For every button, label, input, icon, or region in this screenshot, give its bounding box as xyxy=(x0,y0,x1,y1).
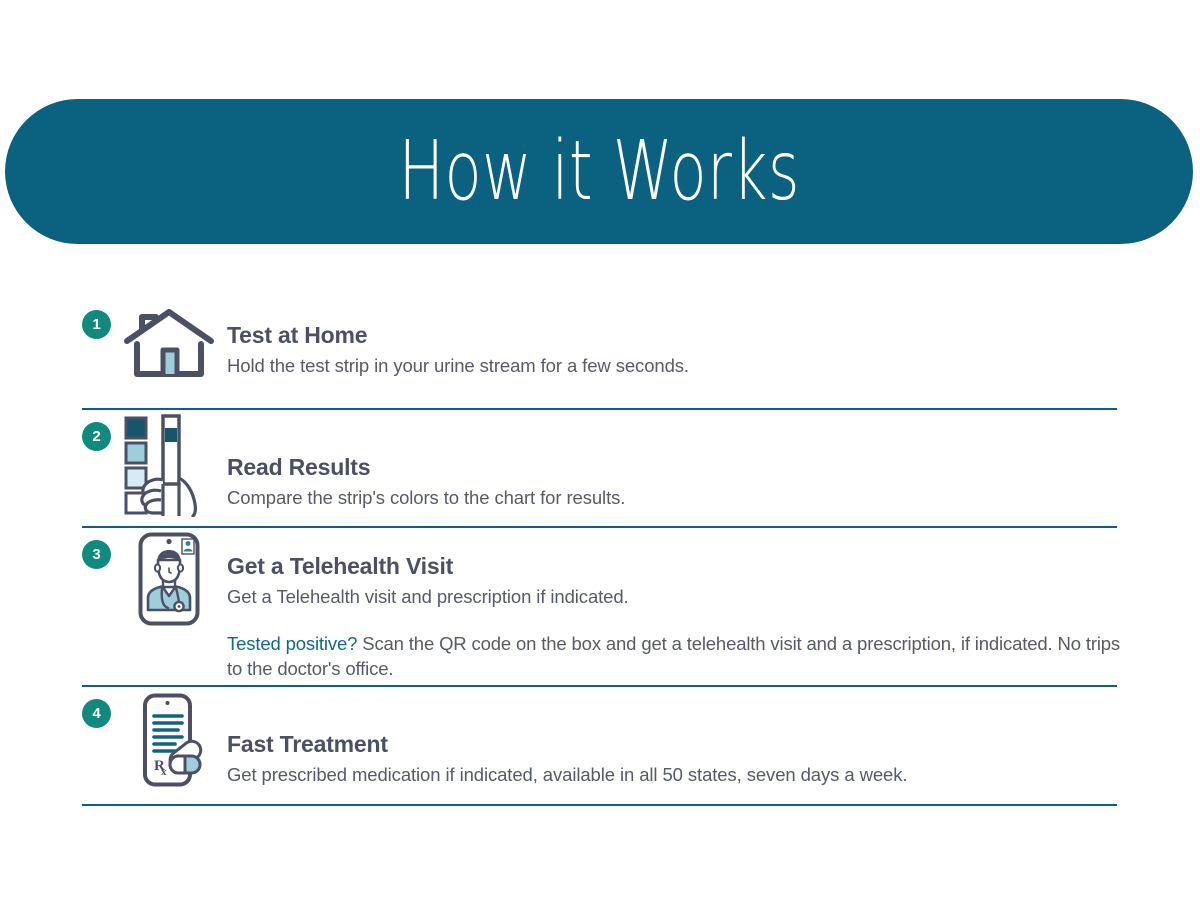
step-title-2: Read Results xyxy=(227,454,1130,480)
step-item-4: 4 R x xyxy=(0,687,1200,806)
tested-positive-highlight: Tested positive? xyxy=(227,633,357,654)
step-text-2: Read Results Compare the strip's colors … xyxy=(227,410,1200,511)
step-extra-note-3: Tested positive? Scan the QR code on the… xyxy=(227,632,1128,682)
step-title-4: Fast Treatment xyxy=(227,731,1130,757)
step-item-3: 3 xyxy=(0,528,1200,687)
step-icon-slot-3 xyxy=(111,528,227,626)
step-title-3: Get a Telehealth Visit xyxy=(227,553,1128,579)
step-number-badge-4: 4 xyxy=(82,699,111,728)
telehealth-doctor-phone-icon xyxy=(138,532,200,626)
step-extra-text-3: Scan the QR code on the box and get a te… xyxy=(227,633,1120,679)
step-number-badge-2: 2 xyxy=(82,422,111,451)
step-text-3: Get a Telehealth Visit Get a Telehealth … xyxy=(227,528,1200,682)
step-icon-slot-4: R x xyxy=(111,687,227,787)
prescription-phone-pills-icon: R x xyxy=(134,693,204,787)
step-description-4: Get prescribed medication if indicated, … xyxy=(227,763,1130,788)
svg-text:x: x xyxy=(161,766,167,778)
house-icon xyxy=(119,304,219,384)
step-description-2: Compare the strip's colors to the chart … xyxy=(227,486,1130,511)
test-strip-hand-icon xyxy=(119,412,219,517)
step-number-badge-3: 3 xyxy=(82,540,111,569)
step-title-1: Test at Home xyxy=(227,322,1130,348)
page-title: How it Works xyxy=(398,131,799,213)
step-number-badge-1: 1 xyxy=(82,310,111,339)
step-description-3: Get a Telehealth visit and prescription … xyxy=(227,585,1128,610)
step-item-2: 2 Read Results Compare t xyxy=(0,410,1200,528)
header-banner: How it Works xyxy=(5,99,1193,244)
step-text-1: Test at Home Hold the test strip in your… xyxy=(227,296,1200,379)
step-icon-slot-1 xyxy=(111,296,227,384)
step-icon-slot-2 xyxy=(111,410,227,517)
step-text-4: Fast Treatment Get prescribed medication… xyxy=(227,687,1200,788)
steps-list: 1 Test at Home Hold the test strip in yo… xyxy=(0,296,1200,806)
step-item-1: 1 Test at Home Hold the test strip in yo… xyxy=(0,296,1200,410)
step-description-1: Hold the test strip in your urine stream… xyxy=(227,354,1130,379)
step-divider-4 xyxy=(82,804,1117,806)
